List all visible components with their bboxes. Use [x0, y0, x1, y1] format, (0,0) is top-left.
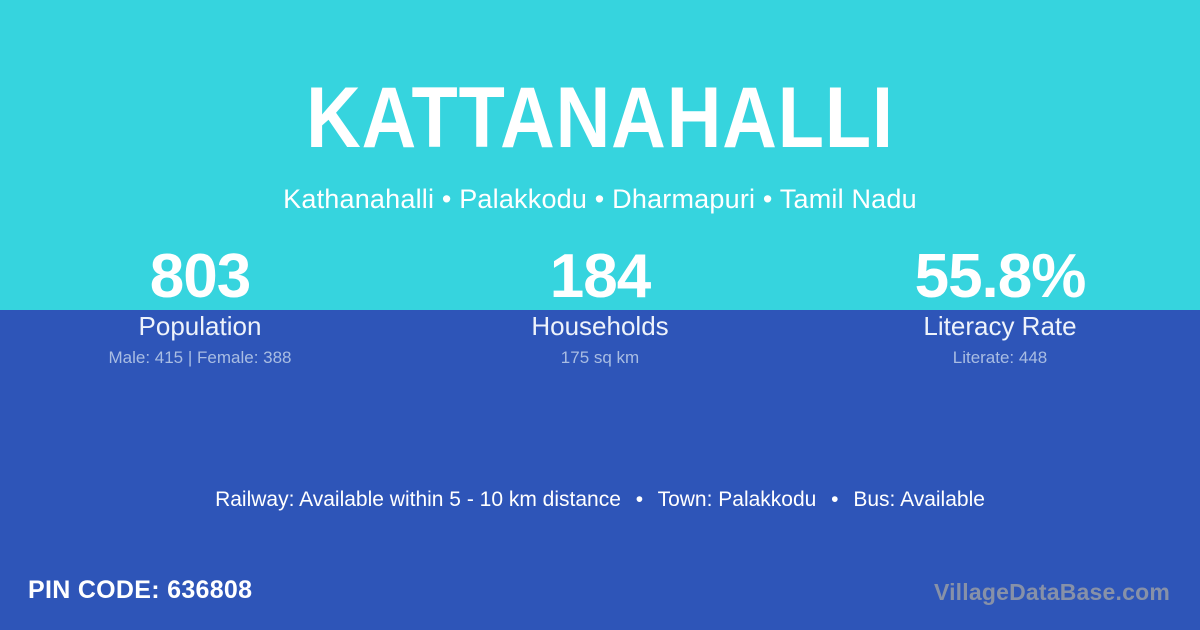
info-railway: Railway: Available within 5 - 10 km dist…: [215, 488, 621, 511]
stat-households: 184 Households 175 sq km: [400, 243, 800, 368]
stat-literacy-rate-label: Literacy Rate: [800, 311, 1200, 341]
stat-literacy-rate: 55.8% Literacy Rate Literate: 448: [800, 243, 1200, 368]
stats-row: 803 Population Male: 415 | Female: 388 1…: [0, 243, 1200, 368]
page-title: KATTANAHALLI: [72, 74, 1128, 162]
info-bus: Bus: Available: [853, 488, 985, 511]
pin-code: PIN CODE: 636808: [28, 575, 252, 605]
stat-population: 803 Population Male: 415 | Female: 388: [0, 243, 400, 368]
stat-population-label: Population: [0, 311, 400, 341]
village-info-card: KATTANAHALLI Kathanahalli • Palakkodu • …: [0, 0, 1200, 630]
stat-households-label: Households: [400, 311, 800, 341]
connectivity-info-line: Railway: Available within 5 - 10 km dist…: [0, 485, 1200, 515]
stat-households-value: 184: [400, 243, 800, 310]
stat-population-value: 803: [0, 243, 400, 310]
stat-literacy-rate-sub: Literate: 448: [800, 348, 1200, 368]
stat-population-sub: Male: 415 | Female: 388: [0, 348, 400, 368]
stat-literacy-rate-value: 55.8%: [800, 243, 1200, 310]
info-town: Town: Palakkodu: [658, 488, 817, 511]
stat-households-sub: 175 sq km: [400, 348, 800, 368]
breadcrumb: Kathanahalli • Palakkodu • Dharmapuri • …: [0, 183, 1200, 215]
card-footer: PIN CODE: 636808 VillageDataBase.com: [0, 570, 1200, 630]
info-separator-2: •: [822, 485, 847, 515]
site-branding: VillageDataBase.com: [934, 578, 1170, 606]
card-header: KATTANAHALLI Kathanahalli • Palakkodu • …: [0, 0, 1200, 240]
info-separator-1: •: [627, 485, 652, 515]
